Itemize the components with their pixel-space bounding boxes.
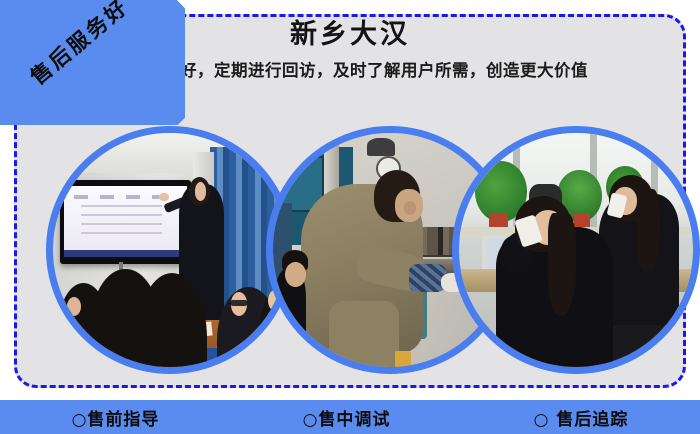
bottom-item-during-sales: ○售中调试 bbox=[303, 405, 391, 430]
photo-circle-after-sales-callback bbox=[452, 126, 700, 374]
photo-after-sales-callback bbox=[459, 133, 693, 367]
corner-ribbon: 售后服务好 bbox=[0, 0, 185, 125]
service-banner: 新乡大汉 售后服务好，定期进行回访，及时了解用户所需，创造更大价值 bbox=[0, 0, 700, 434]
bullet-marker-during-sales: ○ bbox=[303, 410, 319, 430]
bottom-item-after-sales: ○ 售后追踪 bbox=[534, 405, 629, 430]
bottom-item-label-after-sales: 售后追踪 bbox=[556, 410, 628, 430]
bottom-service-bar: ○售前指导 ○售中调试 ○ 售后追踪 bbox=[0, 400, 700, 434]
bottom-item-label-during-sales: 售中调试 bbox=[318, 410, 390, 430]
bottom-item-pre-sales: ○售前指导 bbox=[72, 405, 160, 430]
photo-circle-row bbox=[0, 126, 700, 376]
photo-pre-sales-training bbox=[53, 133, 287, 367]
bullet-marker-after-sales: ○ bbox=[534, 410, 550, 430]
photo-circle-pre-sales-training bbox=[46, 126, 294, 374]
bottom-item-label-pre-sales: 售前指导 bbox=[87, 410, 159, 430]
bullet-marker-pre-sales: ○ bbox=[72, 410, 88, 430]
